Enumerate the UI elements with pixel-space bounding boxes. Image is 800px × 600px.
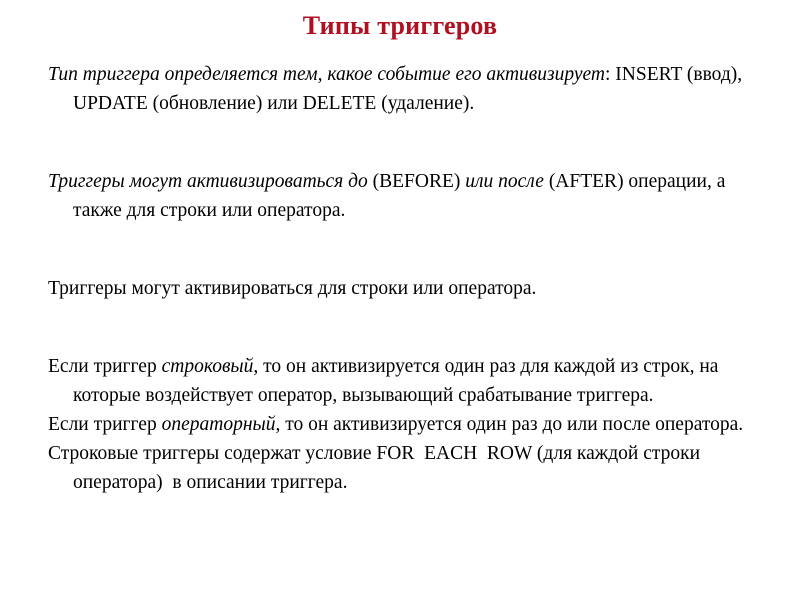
text-run-normal: , то он активизируется один раз до или п… [275,414,743,435]
paragraph-for-each-row-clause: Строковые триггеры содержат условие FOR … [48,439,776,497]
text-run-normal: (BEFORE) [373,171,466,192]
presentation-slide: Типы триггеров Тип триггера определяется… [0,0,800,600]
text-run-normal: Триггеры могут активироваться для строки… [48,278,536,299]
paragraph-row-level-trigger: Если триггер строковый, то он активизиру… [48,352,776,410]
slide-title: Типы триггеров [0,11,800,41]
paragraph-statement-level-trigger: Если триггер операторный, то он активизи… [48,410,776,439]
text-run-normal: Строковые триггеры содержат условие FOR … [48,443,705,493]
text-run-italic: Тип триггера определяется тем, какое соб… [48,64,605,85]
text-run-normal: Если триггер [48,356,162,377]
paragraph-row-or-statement: Триггеры могут активироваться для строки… [48,274,776,303]
text-run-italic-keyword: строковый [162,356,254,377]
paragraph-trigger-type-definition: Тип триггера определяется тем, какое соб… [48,60,776,118]
slide-body: Тип триггера определяется тем, какое соб… [48,60,776,497]
text-run-italic: или после [465,171,549,192]
text-run-italic-keyword: операторный [162,414,276,435]
paragraph-before-after-timing: Триггеры могут активизироваться до (BEFO… [48,167,776,225]
text-run-italic: Триггеры могут активизироваться до [48,171,373,192]
text-run-normal: Если триггер [48,414,162,435]
